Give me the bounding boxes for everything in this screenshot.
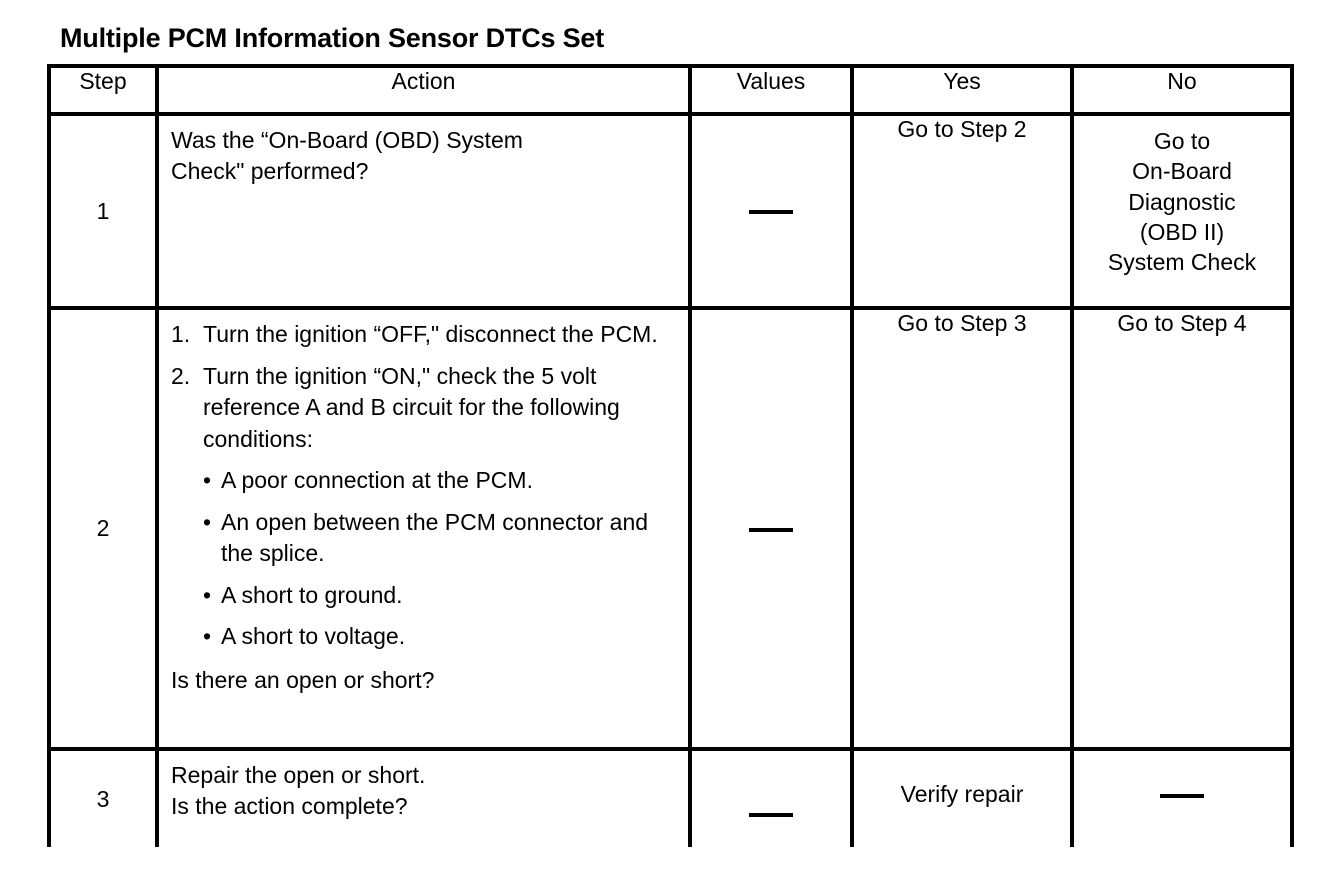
bullet-list-item: • A short to voltage. — [171, 621, 678, 653]
numbered-step-item: 2. Turn the ignition “ON," check the 5 v… — [171, 361, 678, 456]
bullet-text: A short to ground. — [221, 582, 403, 608]
yes-cell: Go to Step 2 — [852, 114, 1072, 308]
numbered-step-text: Turn the ignition “ON," check the 5 volt… — [203, 363, 620, 452]
numbered-step-marker: 1. — [171, 319, 190, 351]
condition-bullet-list: • A poor connection at the PCM. • An ope… — [171, 465, 678, 653]
action-content: Repair the open or short. Is the action … — [159, 751, 688, 830]
action-text-line: Was the “On-Board (OBD) System — [171, 125, 678, 156]
step-number-cell: 1 — [49, 114, 157, 308]
no-content: Go to On-Board Diagnostic (OBD II) Syste… — [1074, 116, 1290, 278]
table-row: 2 1. Turn the ignition “OFF," disconnect… — [49, 308, 1292, 749]
values-cell — [690, 749, 852, 847]
no-content — [1074, 751, 1290, 808]
table-body: 1 Was the “On-Board (OBD) System Check" … — [49, 114, 1292, 847]
page-title: Multiple PCM Information Sensor DTCs Set — [60, 24, 604, 54]
action-cell: Was the “On-Board (OBD) System Check" pe… — [157, 114, 690, 308]
table-header-row: Step Action Values Yes No — [49, 66, 1292, 114]
numbered-step-marker: 2. — [171, 361, 190, 393]
action-text-line: Check" performed? — [171, 156, 678, 187]
column-header-yes: Yes — [852, 66, 1072, 114]
values-cell — [690, 114, 852, 308]
no-cell: Go to Step 4 — [1072, 308, 1292, 749]
no-text-line: (OBD II) — [1080, 217, 1284, 247]
diagnostic-table: Step Action Values Yes No 1 Was the “On-… — [47, 64, 1294, 847]
values-content — [692, 771, 850, 828]
yes-content: Go to Step 2 — [854, 116, 1070, 187]
bullet-text: An open between the PCM connector and th… — [221, 509, 648, 567]
yes-cell: Verify repair — [852, 749, 1072, 847]
yes-cell: Go to Step 3 — [852, 308, 1072, 749]
em-dash-mark — [749, 210, 793, 214]
action-cell: Repair the open or short. Is the action … — [157, 749, 690, 847]
no-cell: Go to On-Board Diagnostic (OBD II) Syste… — [1072, 114, 1292, 308]
yes-content: Go to Step 3 — [854, 310, 1070, 379]
no-cell — [1072, 749, 1292, 847]
em-dash-mark — [749, 528, 793, 532]
numbered-step-item: 1. Turn the ignition “OFF," disconnect t… — [171, 319, 678, 351]
step-number-cell: 2 — [49, 308, 157, 749]
column-header-values: Values — [690, 66, 852, 114]
numbered-step-list: 1. Turn the ignition “OFF," disconnect t… — [171, 319, 678, 455]
bullet-marker-icon: • — [203, 621, 211, 653]
em-dash-mark — [1160, 794, 1204, 798]
table-header: Step Action Values Yes No — [49, 66, 1292, 114]
no-text-line: On-Board — [1080, 156, 1284, 186]
bullet-text: A short to voltage. — [221, 623, 405, 649]
action-cell: 1. Turn the ignition “OFF," disconnect t… — [157, 308, 690, 749]
column-header-no: No — [1072, 66, 1292, 114]
bullet-list-item: • An open between the PCM connector and … — [171, 507, 678, 570]
table-row: 3 Repair the open or short. Is the actio… — [49, 749, 1292, 847]
no-text-line: Diagnostic — [1080, 187, 1284, 217]
bullet-list-item: • A short to ground. — [171, 580, 678, 612]
table-row: 1 Was the “On-Board (OBD) System Check" … — [49, 114, 1292, 308]
page-canvas: Multiple PCM Information Sensor DTCs Set… — [0, 0, 1344, 892]
bullet-marker-icon: • — [203, 507, 211, 539]
action-text-line: Repair the open or short. — [171, 760, 678, 791]
bullet-marker-icon: • — [203, 465, 211, 497]
column-header-step: Step — [49, 66, 157, 114]
em-dash-mark — [749, 813, 793, 817]
bullet-marker-icon: • — [203, 580, 211, 612]
no-content: Go to Step 4 — [1074, 310, 1290, 379]
step-number-cell: 3 — [49, 749, 157, 847]
no-text-line: Go to — [1080, 126, 1284, 156]
numbered-step-text: Turn the ignition “OFF," disconnect the … — [203, 321, 658, 347]
yes-content: Verify repair — [854, 751, 1070, 808]
values-cell — [690, 308, 852, 749]
action-text-line: Is the action complete? — [171, 791, 678, 822]
action-content: 1. Turn the ignition “OFF," disconnect t… — [159, 310, 688, 704]
action-content: Was the “On-Board (OBD) System Check" pe… — [159, 116, 688, 195]
bullet-list-item: • A poor connection at the PCM. — [171, 465, 678, 497]
bullet-text: A poor connection at the PCM. — [221, 467, 533, 493]
column-header-action: Action — [157, 66, 690, 114]
no-text-line: System Check — [1080, 247, 1284, 277]
action-question-text: Is there an open or short? — [171, 665, 678, 696]
